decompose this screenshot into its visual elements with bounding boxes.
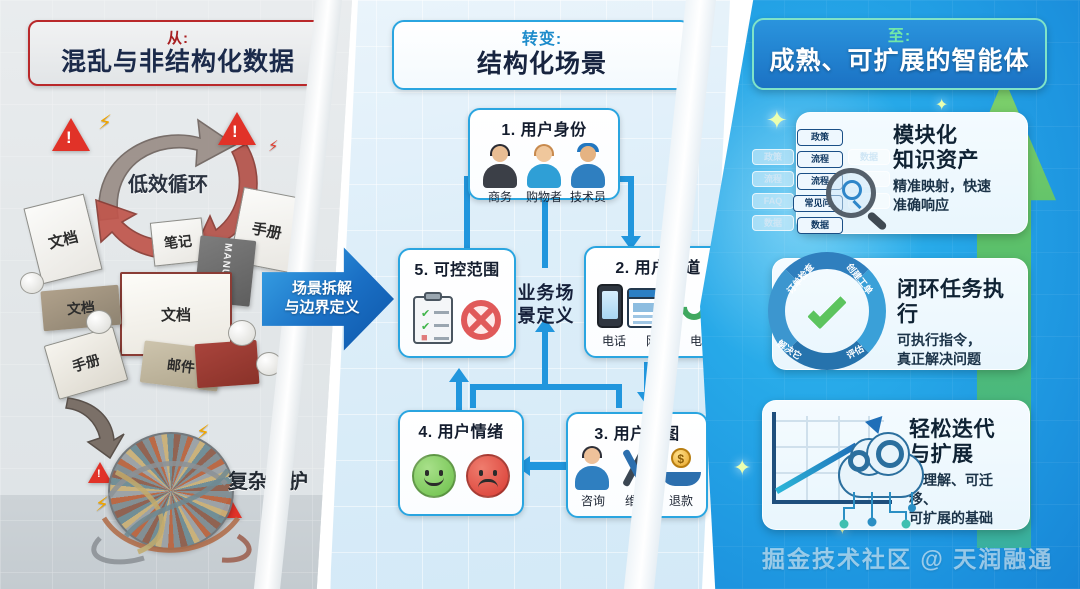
happy-face-icon <box>412 454 456 498</box>
infographic-root: 从: 混乱与非结构化数据 低效循环 ! ! ! ! ⚡ ⚡ ⚡ ⚡ 文档 手册 … <box>0 0 1080 589</box>
angry-face-icon <box>466 454 510 498</box>
circuit-lines-icon <box>838 492 930 530</box>
flow-line-center-up2 <box>542 330 548 388</box>
tag-faded: 政策 <box>752 149 794 165</box>
card-3-title-2: 与扩展 <box>909 442 1017 467</box>
left-header-title: 混乱与非结构化数据 <box>30 46 326 77</box>
closed-loop-cycle-icon: 订单检查 创建工单 评估 解决它 <box>768 252 886 370</box>
mid-header-title: 结构化场景 <box>394 48 690 79</box>
mobile-phone-icon <box>597 284 623 328</box>
card-1-sub-2: 准确响应 <box>893 196 1015 215</box>
card-1-title-2: 知识资产 <box>893 148 1015 173</box>
center-label-line1: 业务场 <box>516 282 576 305</box>
node-1-labels: 商务 购物者 技术员 <box>470 188 618 209</box>
tangled-cable-strands <box>86 440 264 572</box>
cycle-label: 低效循环 <box>128 168 208 197</box>
technician-person-icon <box>569 144 607 188</box>
card-2-sub-2: 真正解决问题 <box>897 350 1015 369</box>
node-1-icons <box>470 140 618 188</box>
node-5-icons: ✔ ✔ ■ <box>400 280 514 344</box>
transition-arrow-line1: 场景拆解 <box>284 280 359 299</box>
center-label-line2: 景定义 <box>516 305 576 328</box>
tag-faded: 数据 <box>848 149 890 165</box>
node-3-item-0: 咨询 <box>574 492 612 509</box>
node-1-item-1: 购物者 <box>525 188 563 205</box>
card-1-title-1: 模块化 <box>893 123 1015 148</box>
crumpled-paper <box>228 320 256 346</box>
gear-icon <box>876 440 904 468</box>
card-1-sub-1: 精准映射，快速 <box>893 177 1015 196</box>
mid-panel-header: 转变: 结构化场景 <box>392 20 692 90</box>
flow-arrowhead-up <box>449 368 469 382</box>
sparkle-icon: ✦ <box>733 455 751 481</box>
node-4-title: 4. 用户情绪 <box>400 412 522 442</box>
tag-active: 数据 <box>797 217 843 234</box>
node-controllable-scope[interactable]: 5. 可控范围 ✔ ✔ ■ <box>398 248 516 358</box>
node-5-title: 5. 可控范围 <box>400 250 514 280</box>
node-2-item-0: 电话 <box>595 332 633 349</box>
node-1-title: 1. 用户身份 <box>470 110 618 140</box>
tag-active: 政策 <box>797 129 843 146</box>
card-2-sub-1: 可执行指令， <box>897 331 1015 350</box>
right-panel-header: 至: 成熟、可扩展的智能体 <box>752 18 1047 90</box>
shopper-person-icon <box>525 144 563 188</box>
flow-line-1-to-2 <box>628 176 634 240</box>
node-3-item-2: 退款 <box>662 492 700 509</box>
crumpled-paper <box>86 310 112 334</box>
right-header-kicker: 至: <box>754 20 1045 45</box>
left-header-kicker: 从: <box>30 22 326 46</box>
sparkle-icon: ✦ <box>766 105 788 136</box>
magnifier-icon <box>826 168 876 218</box>
watermark: 掘金技术社区 @ 天润融通 <box>762 540 1053 574</box>
node-3-title: 3. 用户意图 <box>568 414 706 444</box>
node-user-identity[interactable]: 1. 用户身份 商务 购物者 技术员 <box>468 108 620 200</box>
left-panel-header: 从: 混乱与非结构化数据 <box>28 20 328 86</box>
node-1-item-0: 商务 <box>481 188 519 205</box>
mid-header-kicker: 转变: <box>394 22 690 48</box>
consult-agent-icon <box>572 446 611 490</box>
tag-faded: FAQ <box>752 193 794 209</box>
tag-active: 流程 <box>797 151 843 168</box>
node-1-item-2: 技术员 <box>569 188 607 205</box>
tag-faded: 数据 <box>752 215 794 231</box>
right-header-title: 成熟、可扩展的智能体 <box>754 45 1045 76</box>
transition-arrow-line2: 与边界定义 <box>284 299 359 318</box>
card-2-title-1: 闭环任务执行 <box>897 277 1015 327</box>
node-4-icons <box>400 442 522 498</box>
card-3-title-1: 轻松迭代 <box>909 417 1017 442</box>
tag-faded: 流程 <box>752 171 794 187</box>
flow-line-bottom-left <box>470 384 476 408</box>
center-label: 业务场 景定义 <box>516 282 576 327</box>
gear-icon <box>848 450 870 472</box>
checklist-clipboard-icon: ✔ ✔ ■ <box>413 296 453 344</box>
red-book <box>195 340 260 388</box>
forbidden-icon <box>461 300 501 340</box>
lightning-bolt-icon: ⚡ <box>268 137 279 155</box>
crumpled-paper <box>20 272 44 294</box>
flow-line-bottom-bus <box>470 384 622 390</box>
node-user-emotion[interactable]: 4. 用户情绪 <box>398 410 524 516</box>
flow-line-4-to-5 <box>456 380 462 414</box>
business-person-icon <box>481 144 519 188</box>
flow-line-bottom-right <box>616 384 622 408</box>
lightning-bolt-icon: ⚡ <box>98 110 112 135</box>
